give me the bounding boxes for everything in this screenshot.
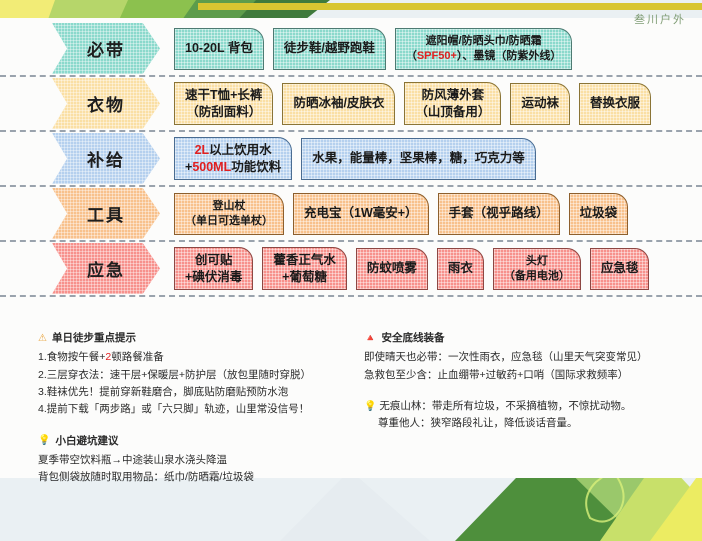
top-accent-bar: [198, 3, 702, 10]
gear-card[interactable]: 替换衣服: [579, 83, 651, 125]
note-heading-text: 小白避坑建议: [55, 433, 118, 450]
note-block: ⚠单日徒步重点提示1.食物按午餐+2顿路餐准备2.三层穿衣法：速干层+保暖层+防…: [38, 330, 352, 419]
gear-card[interactable]: 充电宝（1W毫安+）: [293, 193, 429, 235]
category-label-text: 应急: [87, 256, 125, 281]
note-line: 4.提前下载「两步路」或「六只脚」轨迹，山里常没信号！: [38, 401, 352, 418]
note-line: 急救包至少含：止血绷带+过敏药+口哨（国际求救频率）: [364, 367, 702, 384]
gear-card-list: 速干T恤+长裤（防刮面料）防晒冰袖/皮肤衣防风薄外套（山顶备用）运动袜替换衣服: [174, 82, 702, 126]
gear-card[interactable]: 藿香正气水+葡萄糖: [262, 247, 347, 291]
gear-card-text: 垃圾袋: [580, 205, 618, 222]
gear-card-text: 防风薄外套（山顶备用）: [415, 87, 490, 121]
gear-card-text: 遮阳帽/防晒头巾/防晒霜（SPF50+）、墨镜（防紫外线）: [406, 34, 562, 64]
note-block: 💡 无痕山林：带走所有垃圾，不采摘植物，不惊扰动物。尊重他人：狭窄路段礼让，降低…: [364, 398, 702, 433]
note-heading: 💡小白避坑建议: [38, 433, 352, 450]
note-line: 夏季带空饮料瓶→中途装山泉水浇头降温: [38, 452, 352, 469]
gear-card[interactable]: 防蚊喷雾: [356, 248, 428, 290]
gear-card[interactable]: 头灯（备用电池）: [493, 248, 581, 290]
gear-card[interactable]: 徒步鞋/越野跑鞋: [273, 28, 386, 70]
category-label-text: 补给: [87, 146, 125, 171]
gear-card-list: 2L以上饮用水+500ML功能饮料水果，能量棒，坚果棒，糖，巧克力等: [174, 137, 702, 181]
gear-card-text: 应急毯: [601, 260, 639, 277]
category-label-工具: 工具: [52, 188, 160, 239]
note-line: 2.三层穿衣法：速干层+保暖层+防护层（放包里随时穿脱）: [38, 367, 352, 384]
alert-icon: 🔺: [364, 334, 376, 344]
gear-card-list: 登山杖（单日可选单杖）充电宝（1W毫安+）手套（视乎路线）垃圾袋: [174, 193, 702, 235]
gear-card-text: 防蚊喷雾: [367, 260, 417, 277]
gear-card-text: 创可贴+碘伏消毒: [185, 252, 242, 286]
lightbulb-icon: 💡: [38, 436, 50, 446]
gear-card[interactable]: 防晒冰袖/皮肤衣: [282, 83, 395, 125]
gear-card-list: 10-20L 背包徒步鞋/越野跑鞋遮阳帽/防晒头巾/防晒霜（SPF50+）、墨镜…: [174, 28, 702, 70]
gear-card[interactable]: 速干T恤+长裤（防刮面料）: [174, 82, 273, 126]
notes-section: ⚠单日徒步重点提示1.食物按午餐+2顿路餐准备2.三层穿衣法：速干层+保暖层+防…: [0, 330, 702, 490]
checklist-row: 工具登山杖（单日可选单杖）充电宝（1W毫安+）手套（视乎路线）垃圾袋: [0, 187, 702, 242]
notes-column-right: 🔺安全底线装备即使晴天也必带：一次性雨衣，应急毯（山里天气突变常见）急救包至少含…: [352, 330, 702, 490]
gear-card-text: 手套（视乎路线）: [449, 205, 549, 222]
gear-card[interactable]: 登山杖（单日可选单杖）: [174, 193, 284, 235]
gear-card[interactable]: 应急毯: [590, 248, 650, 290]
checklist-row: 必带10-20L 背包徒步鞋/越野跑鞋遮阳帽/防晒头巾/防晒霜（SPF50+）、…: [0, 22, 702, 77]
gear-card-text: 水果，能量棒，坚果棒，糖，巧克力等: [312, 150, 525, 167]
gear-card[interactable]: 运动袜: [510, 83, 570, 125]
gear-card-text: 徒步鞋/越野跑鞋: [284, 40, 375, 57]
note-heading: ⚠单日徒步重点提示: [38, 330, 352, 347]
note-line: 背包侧袋放随时取用物品：纸巾/防晒霜/垃圾袋: [38, 469, 352, 486]
infographic-page: 叁川户外 必带10-20L 背包徒步鞋/越野跑鞋遮阳帽/防晒头巾/防晒霜（SPF…: [0, 0, 702, 541]
warning-icon: ⚠: [38, 334, 47, 344]
category-label-衣物: 衣物: [52, 78, 160, 129]
gear-card[interactable]: 2L以上饮用水+500ML功能饮料: [174, 137, 292, 181]
gear-card[interactable]: 手套（视乎路线）: [438, 193, 560, 235]
gear-card-list: 创可贴+碘伏消毒藿香正气水+葡萄糖防蚊喷雾雨衣头灯（备用电池）应急毯: [174, 247, 702, 291]
category-label-text: 工具: [87, 201, 125, 226]
gear-card[interactable]: 创可贴+碘伏消毒: [174, 247, 253, 291]
gear-card-text: 登山杖（单日可选单杖）: [185, 199, 273, 229]
note-block: 🔺安全底线装备即使晴天也必带：一次性雨衣，应急毯（山里天气突变常见）急救包至少含…: [364, 330, 702, 384]
category-label-text: 衣物: [87, 91, 125, 116]
gear-card-text: 头灯（备用电池）: [504, 254, 570, 284]
gear-card[interactable]: 10-20L 背包: [174, 28, 264, 70]
notes-column-left: ⚠单日徒步重点提示1.食物按午餐+2顿路餐准备2.三层穿衣法：速干层+保暖层+防…: [0, 330, 352, 490]
gear-card-text: 速干T恤+长裤（防刮面料）: [185, 87, 262, 121]
category-label-text: 必带: [87, 36, 125, 61]
category-label-应急: 应急: [52, 243, 160, 294]
gear-card-text: 运动袜: [521, 95, 559, 112]
gear-card-text: 替换衣服: [590, 95, 640, 112]
note-heading: 🔺安全底线装备: [364, 330, 702, 347]
gear-card-text: 藿香正气水+葡萄糖: [273, 252, 336, 286]
note-line: 1.食物按午餐+2顿路餐准备: [38, 349, 352, 366]
note-line: 3.鞋袜优先！提前穿新鞋磨合，脚底贴防磨贴预防水泡: [38, 384, 352, 401]
gear-card-text: 2L以上饮用水+500ML功能饮料: [185, 142, 281, 176]
gear-card-text: 10-20L 背包: [185, 40, 253, 57]
checklist-row: 补给2L以上饮用水+500ML功能饮料水果，能量棒，坚果棒，糖，巧克力等: [0, 132, 702, 187]
gear-card[interactable]: 雨衣: [437, 248, 484, 290]
checklist-row: 应急创可贴+碘伏消毒藿香正气水+葡萄糖防蚊喷雾雨衣头灯（备用电池）应急毯: [0, 242, 702, 297]
note-heading-text: 安全底线装备: [381, 330, 444, 347]
category-label-补给: 补给: [52, 133, 160, 184]
category-label-必带: 必带: [52, 23, 160, 74]
note-line: 尊重他人：狭窄路段礼让，降低谈话音量。: [364, 415, 702, 432]
note-heading-text: 单日徒步重点提示: [52, 330, 136, 347]
gear-card-text: 雨衣: [448, 260, 473, 277]
gear-card[interactable]: 垃圾袋: [569, 193, 629, 235]
gear-card-text: 防晒冰袖/皮肤衣: [293, 95, 384, 112]
gear-card-text: 充电宝（1W毫安+）: [304, 205, 418, 222]
lightbulb-icon: 💡: [364, 401, 376, 412]
brand-logo-text: 叁川户外: [634, 11, 686, 27]
note-block: 💡小白避坑建议夏季带空饮料瓶→中途装山泉水浇头降温背包侧袋放随时取用物品：纸巾/…: [38, 433, 352, 487]
checklist-row: 衣物速干T恤+长裤（防刮面料）防晒冰袖/皮肤衣防风薄外套（山顶备用）运动袜替换衣…: [0, 77, 702, 132]
note-line: 💡 无痕山林：带走所有垃圾，不采摘植物，不惊扰动物。: [364, 398, 702, 415]
gear-card[interactable]: 水果，能量棒，坚果棒，糖，巧克力等: [301, 138, 536, 180]
gear-card[interactable]: 遮阳帽/防晒头巾/防晒霜（SPF50+）、墨镜（防紫外线）: [395, 28, 573, 70]
gear-checklist-table: 必带10-20L 背包徒步鞋/越野跑鞋遮阳帽/防晒头巾/防晒霜（SPF50+）、…: [0, 22, 702, 297]
note-line: 即使晴天也必带：一次性雨衣，应急毯（山里天气突变常见）: [364, 349, 702, 366]
gear-card[interactable]: 防风薄外套（山顶备用）: [404, 82, 501, 126]
